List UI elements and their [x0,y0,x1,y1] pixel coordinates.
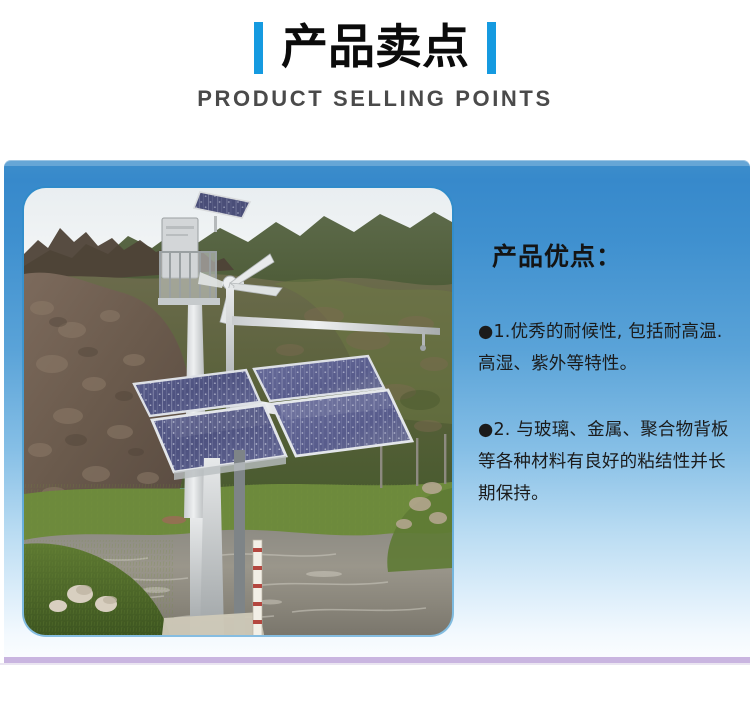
benefit-item-2-line-2: 等各种材料有良好的粘结性并长 [478,446,746,478]
benefit-item-2-line-1: ●2. 与玻璃、金属、聚合物背板 [478,414,746,446]
product-photo-image [24,188,452,635]
benefits-heading: 产品优点： [492,240,746,274]
page-subtitle: PRODUCT SELLING POINTS [0,85,750,113]
benefits-column: 产品优点： ●1.优秀的耐候性, 包括耐高温. 高湿、紫外等特性。 ●2. 与玻… [478,240,746,510]
accent-bar-left-icon [254,22,263,74]
page-header: 产品卖点 PRODUCT SELLING POINTS [0,0,750,132]
page-title: 产品卖点 [281,22,469,74]
benefit-item-1-line-1: ●1.优秀的耐候性, 包括耐高温. [478,316,746,348]
benefit-item-2-line-3: 期保持。 [478,478,746,510]
product-selling-points-page: 产品卖点 PRODUCT SELLING POINTS [0,0,750,702]
section-divider-shadow [0,663,750,665]
benefit-item-1: ●1.优秀的耐候性, 包括耐高温. 高湿、紫外等特性。 [478,316,746,380]
accent-bar-right-icon [487,22,496,74]
benefit-item-2: ●2. 与玻璃、金属、聚合物背板 等各种材料有良好的粘结性并长 期保持。 [478,414,746,510]
benefit-item-1-line-2: 高湿、紫外等特性。 [478,348,746,380]
title-row: 产品卖点 [0,16,750,80]
product-photo [24,188,452,635]
